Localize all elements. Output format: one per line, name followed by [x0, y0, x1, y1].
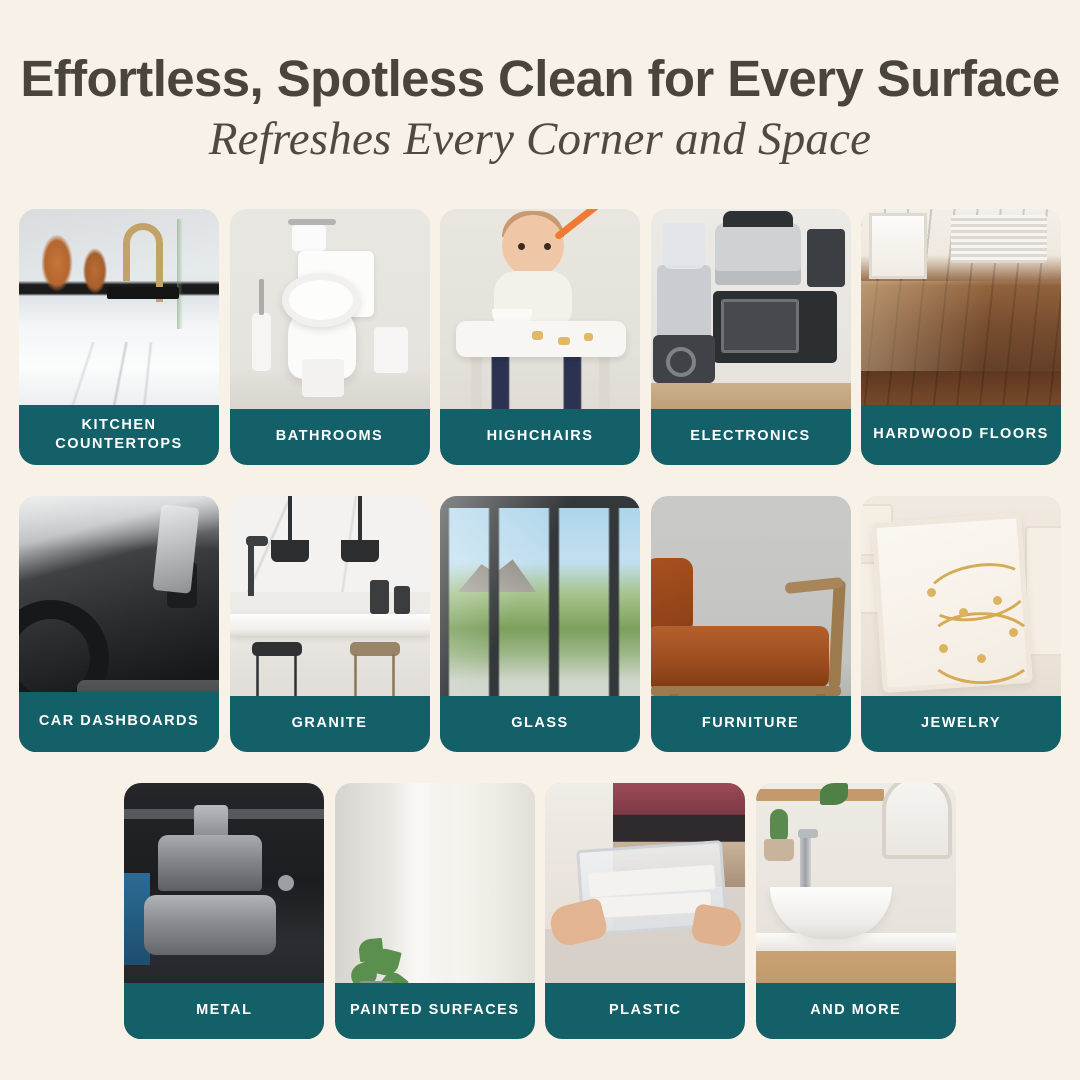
pressure-cooker-shape — [715, 223, 801, 285]
surface-card-electronics[interactable]: ELECTRONICS — [651, 209, 851, 465]
gold-charm — [959, 608, 968, 617]
sink-handle-icon — [107, 287, 179, 299]
baby-eye-right — [544, 243, 551, 250]
sofa-arm-post — [828, 580, 846, 688]
hand-shape — [690, 903, 744, 949]
card-label: BATHROOMS — [230, 409, 430, 465]
gold-charm — [939, 644, 948, 653]
faucet-icon — [800, 835, 811, 893]
card-label: GRANITE — [230, 696, 430, 752]
surface-card-kitchen-countertops[interactable]: KITCHEN COUNTERTOPS — [19, 209, 219, 465]
metal-cylinder-lower — [144, 895, 276, 955]
surface-card-painted-surfaces[interactable]: PAINTED SURFACES — [335, 783, 535, 1039]
baby-eye-left — [518, 243, 525, 250]
card-label: HIGHCHAIRS — [440, 409, 640, 465]
faucet-icon — [123, 223, 163, 281]
page-title: Effortless, Spotless Clean for Every Sur… — [0, 52, 1080, 106]
surface-card-grid: KITCHEN COUNTERTOPS BATHROOMS — [0, 209, 1080, 1039]
card-row-1: KITCHEN COUNTERTOPS BATHROOMS — [0, 209, 1080, 465]
blender-jar-shape — [657, 265, 711, 337]
toilet-seat-shape — [282, 273, 360, 327]
storage-jar-shape — [394, 586, 410, 614]
food-crumb — [532, 331, 543, 340]
plant-leaf — [820, 783, 848, 805]
gold-charm — [1009, 628, 1018, 637]
surface-card-plastic[interactable]: PLASTIC — [545, 783, 745, 1039]
toilet-paper-icon — [292, 225, 326, 251]
surface-card-furniture[interactable]: FURNITURE — [651, 496, 851, 752]
toilet-base-shape — [302, 359, 344, 397]
surface-card-granite[interactable]: GRANITE — [230, 496, 430, 752]
metal-cap-shape — [194, 805, 228, 839]
mirror-shape — [882, 783, 952, 859]
storage-jar-shape — [370, 580, 389, 614]
card-label: GLASS — [440, 696, 640, 752]
surface-card-glass[interactable]: GLASS — [440, 496, 640, 752]
surface-card-car-dashboards[interactable]: CAR DASHBOARDS — [19, 496, 219, 752]
coffee-grinder-shape — [807, 229, 845, 287]
sofa-wood-frame — [651, 686, 841, 696]
surface-card-and-more[interactable]: AND MORE — [756, 783, 956, 1039]
card-label: ELECTRONICS — [651, 409, 851, 465]
surface-card-jewelry[interactable]: JEWELRY — [861, 496, 1061, 752]
waste-bin-icon — [374, 327, 408, 373]
sunlight-glow — [861, 281, 1061, 371]
granite-island-top — [230, 614, 430, 636]
pendant-lamp-shade — [271, 540, 309, 562]
page-subtitle: Refreshes Every Corner and Space — [0, 114, 1080, 166]
window-shape — [869, 213, 927, 279]
card-label: JEWELRY — [861, 696, 1061, 752]
surface-card-hardwood-floors[interactable]: HARDWOOD FLOORS — [861, 209, 1061, 465]
blender-base-shape — [653, 335, 715, 383]
gold-charm — [927, 588, 936, 597]
surface-card-metal[interactable]: METAL — [124, 783, 324, 1039]
microwave-shape — [713, 291, 837, 363]
baby-head-shape — [502, 215, 564, 277]
page-header: Effortless, Spotless Clean for Every Sur… — [0, 0, 1080, 166]
card-label: AND MORE — [756, 983, 956, 1039]
jewelry-tray-shape — [871, 513, 1032, 693]
card-label: FURNITURE — [651, 696, 851, 752]
card-label: PAINTED SURFACES — [335, 983, 535, 1039]
card-label: METAL — [124, 983, 324, 1039]
faucet-icon — [248, 544, 254, 596]
card-label: PLASTIC — [545, 983, 745, 1039]
surface-card-highchairs[interactable]: HIGHCHAIRS — [440, 209, 640, 465]
pendant-lamp-cord — [288, 496, 292, 542]
pendant-lamp-cord — [358, 496, 362, 542]
card-row-3: METAL PAINTED SURFACES — [0, 783, 1080, 1039]
food-crumb — [558, 337, 570, 345]
gold-charm — [977, 654, 986, 663]
radiator-shape — [951, 215, 1047, 263]
plant-pot-shape — [764, 839, 794, 861]
toilet-brush-icon — [252, 313, 271, 371]
food-crumb — [584, 333, 593, 341]
metal-cylinder-upper — [158, 835, 262, 891]
card-label: CAR DASHBOARDS — [19, 692, 219, 752]
metal-bolt-icon — [278, 875, 294, 891]
sink-basin-shape — [770, 887, 892, 939]
card-label: KITCHEN COUNTERTOPS — [19, 405, 219, 465]
cactus-shape — [770, 809, 788, 843]
card-row-2: CAR DASHBOARDS GRANITE — [0, 496, 1080, 752]
sofa-seat-cushion — [651, 626, 829, 688]
surface-card-bathrooms[interactable]: BATHROOMS — [230, 209, 430, 465]
gold-charm — [993, 596, 1002, 605]
card-label: HARDWOOD FLOORS — [861, 405, 1061, 465]
pendant-lamp-shade — [341, 540, 379, 562]
